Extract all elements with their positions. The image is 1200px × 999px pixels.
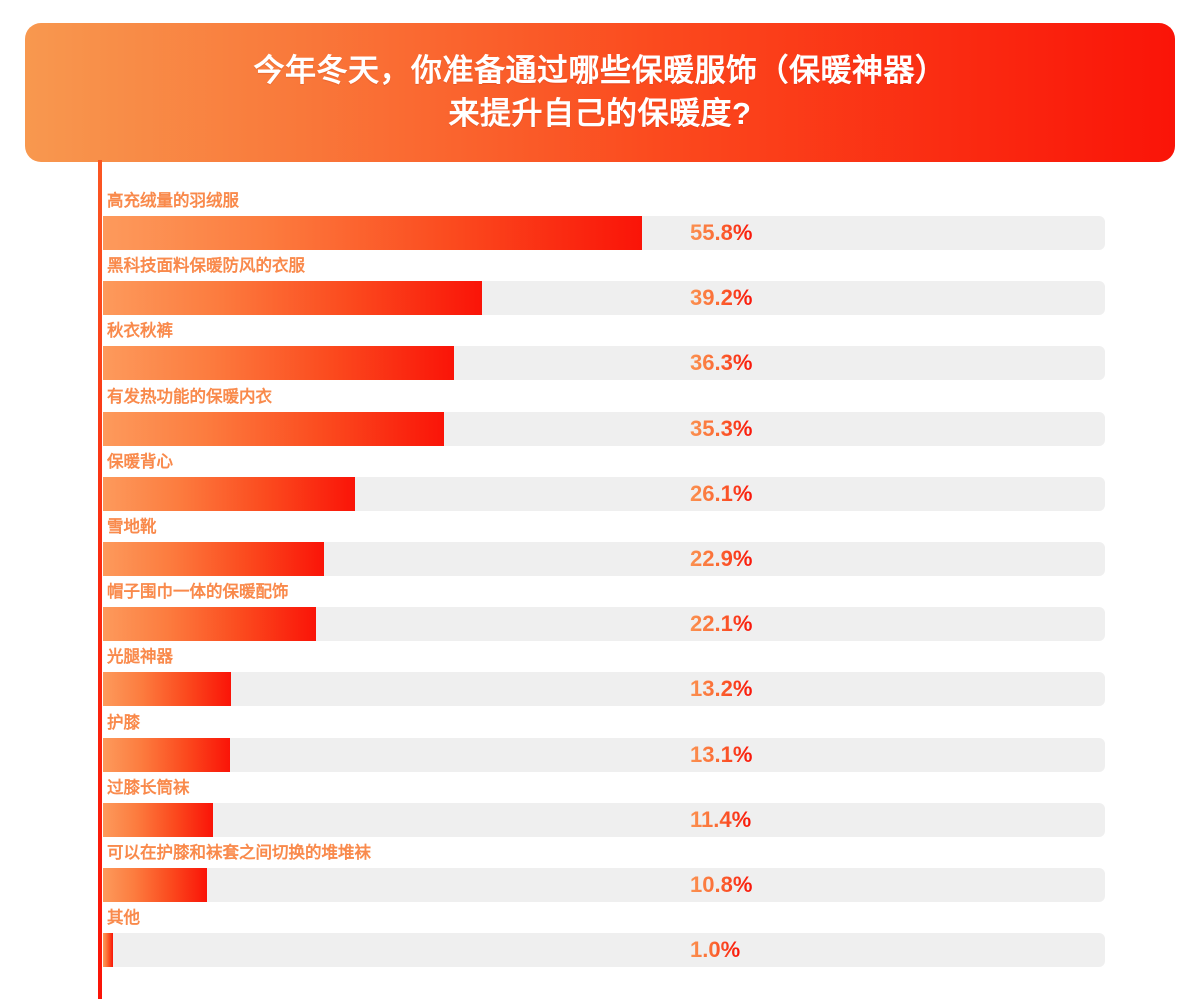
bar-value-label: 26.1% bbox=[690, 477, 752, 511]
bar-track bbox=[103, 542, 1105, 576]
chart-row: 光腿神器13.2% bbox=[0, 646, 1200, 711]
infographic-root: 今年冬天，你准备通过哪些保暖服饰（保暖神器） 来提升自己的保暖度? 高充绒量的羽… bbox=[0, 0, 1200, 999]
chart-row: 过膝长筒袜11.4% bbox=[0, 777, 1200, 842]
bar-category-label: 护膝 bbox=[107, 712, 140, 735]
chart-row: 护膝13.1% bbox=[0, 712, 1200, 777]
bar-category-label: 过膝长筒袜 bbox=[107, 777, 190, 800]
bar-value-label: 55.8% bbox=[690, 216, 752, 250]
bar-track bbox=[103, 281, 1105, 315]
bar-value-label: 13.1% bbox=[690, 738, 752, 772]
bar-fill bbox=[103, 672, 231, 706]
bar-value-label: 39.2% bbox=[690, 281, 752, 315]
bar-track bbox=[103, 216, 1105, 250]
bar-fill bbox=[103, 412, 444, 446]
chart-row: 其他1.0% bbox=[0, 907, 1200, 972]
bar-value-label: 22.1% bbox=[690, 607, 752, 641]
bar-track bbox=[103, 933, 1105, 967]
bar-value-label: 10.8% bbox=[690, 868, 752, 902]
bar-category-label: 有发热功能的保暖内衣 bbox=[107, 386, 272, 409]
chart-row: 雪地靴22.9% bbox=[0, 516, 1200, 581]
bar-value-label: 35.3% bbox=[690, 412, 752, 446]
chart-rows: 高充绒量的羽绒服55.8%黑科技面料保暖防风的衣服39.2%秋衣秋裤36.3%有… bbox=[0, 190, 1200, 972]
bar-category-label: 雪地靴 bbox=[107, 516, 157, 539]
bar-category-label: 光腿神器 bbox=[107, 646, 173, 669]
bar-chart: 高充绒量的羽绒服55.8%黑科技面料保暖防风的衣服39.2%秋衣秋裤36.3%有… bbox=[0, 160, 1200, 999]
bar-track bbox=[103, 738, 1105, 772]
bar-fill bbox=[103, 803, 213, 837]
chart-row: 帽子围巾一体的保暖配饰22.1% bbox=[0, 581, 1200, 646]
bar-category-label: 帽子围巾一体的保暖配饰 bbox=[107, 581, 289, 604]
title-banner: 今年冬天，你准备通过哪些保暖服饰（保暖神器） 来提升自己的保暖度? bbox=[25, 23, 1175, 162]
bar-category-label: 其他 bbox=[107, 907, 140, 930]
chart-row: 高充绒量的羽绒服55.8% bbox=[0, 190, 1200, 255]
bar-category-label: 高充绒量的羽绒服 bbox=[107, 190, 239, 213]
bar-fill bbox=[103, 933, 113, 967]
bar-track bbox=[103, 346, 1105, 380]
bar-fill bbox=[103, 346, 454, 380]
bar-fill bbox=[103, 216, 642, 250]
bar-value-label: 36.3% bbox=[690, 346, 752, 380]
chart-row: 有发热功能的保暖内衣35.3% bbox=[0, 386, 1200, 451]
bar-track bbox=[103, 412, 1105, 446]
bar-track bbox=[103, 477, 1105, 511]
bar-value-label: 1.0% bbox=[690, 933, 740, 967]
bar-category-label: 秋衣秋裤 bbox=[107, 320, 173, 343]
bar-track bbox=[103, 803, 1105, 837]
page-title: 今年冬天，你准备通过哪些保暖服饰（保暖神器） 来提升自己的保暖度? bbox=[254, 50, 947, 136]
bar-fill bbox=[103, 477, 355, 511]
bar-value-label: 13.2% bbox=[690, 672, 752, 706]
bar-track bbox=[103, 607, 1105, 641]
bar-value-label: 11.4% bbox=[690, 803, 751, 837]
chart-row: 黑科技面料保暖防风的衣服39.2% bbox=[0, 255, 1200, 320]
bar-fill bbox=[103, 738, 230, 772]
chart-row: 保暖背心26.1% bbox=[0, 451, 1200, 516]
bar-category-label: 可以在护膝和袜套之间切换的堆堆袜 bbox=[107, 842, 371, 865]
bar-track bbox=[103, 868, 1105, 902]
bar-fill bbox=[103, 281, 482, 315]
bar-category-label: 保暖背心 bbox=[107, 451, 173, 474]
bar-track bbox=[103, 672, 1105, 706]
bar-category-label: 黑科技面料保暖防风的衣服 bbox=[107, 255, 305, 278]
chart-row: 可以在护膝和袜套之间切换的堆堆袜10.8% bbox=[0, 842, 1200, 907]
bar-value-label: 22.9% bbox=[690, 542, 752, 576]
bar-fill bbox=[103, 607, 316, 641]
chart-row: 秋衣秋裤36.3% bbox=[0, 320, 1200, 385]
bar-fill bbox=[103, 542, 324, 576]
bar-fill bbox=[103, 868, 207, 902]
